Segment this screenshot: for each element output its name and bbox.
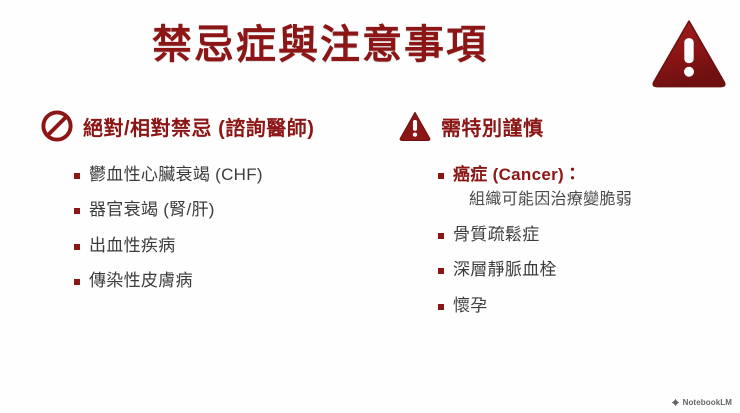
bullet-marker-icon bbox=[438, 304, 444, 310]
prohibition-icon bbox=[40, 109, 74, 143]
list-item-label: 出血性疾病 bbox=[89, 235, 176, 257]
list-item-label: 鬱血性心臟衰竭 (CHF) bbox=[89, 164, 263, 186]
list-item-subtext: 組織可能因治療變脆弱 bbox=[469, 189, 632, 211]
list-item-label: 傳染性皮膚病 bbox=[89, 270, 193, 292]
bullet-marker-icon bbox=[438, 268, 444, 274]
bullet-marker-icon bbox=[74, 279, 80, 285]
list-item: 深層靜脈血栓 bbox=[438, 259, 718, 281]
warning-triangle-icon bbox=[398, 109, 432, 143]
warning-triangle-icon bbox=[650, 16, 728, 90]
bullet-marker-icon bbox=[438, 233, 444, 239]
bullet-list-contraindications: 鬱血性心臟衰竭 (CHF) 器官衰竭 (腎/肝) 出血性疾病 傳染性皮膚病 bbox=[74, 164, 390, 293]
bullet-marker-icon bbox=[74, 173, 80, 179]
list-item: 癌症 (Cancer)： 組織可能因治療變脆弱 bbox=[438, 164, 718, 211]
column-heading-text: 需特別謹慎 bbox=[441, 112, 544, 141]
watermark: NotebookLM bbox=[671, 398, 732, 407]
bullet-marker-icon bbox=[74, 244, 80, 250]
page-title: 禁忌症與注意事項 bbox=[0, 24, 640, 66]
column-cautions: 需特別謹慎 癌症 (Cancer)： 組織可能因治療變脆弱 骨質疏鬆症 深層靜脈… bbox=[398, 104, 718, 330]
list-item: 骨質疏鬆症 bbox=[438, 224, 718, 246]
bullet-marker-icon bbox=[74, 208, 80, 214]
list-item-label: 懷孕 bbox=[453, 295, 488, 317]
list-item-label: 癌症 (Cancer)： bbox=[453, 165, 581, 184]
column-header-contraindications: 絕對/相對禁忌 (諮詢醫師) bbox=[40, 104, 390, 148]
column-header-cautions: 需特別謹慎 bbox=[398, 104, 718, 148]
column-contraindications: 絕對/相對禁忌 (諮詢醫師) 鬱血性心臟衰竭 (CHF) 器官衰竭 (腎/肝) … bbox=[40, 104, 390, 306]
list-item: 出血性疾病 bbox=[74, 235, 390, 257]
list-item: 器官衰竭 (腎/肝) bbox=[74, 199, 390, 221]
list-item: 傳染性皮膚病 bbox=[74, 270, 390, 292]
list-item-label: 器官衰竭 (腎/肝) bbox=[89, 199, 215, 221]
bullet-list-cautions: 癌症 (Cancer)： 組織可能因治療變脆弱 骨質疏鬆症 深層靜脈血栓 懷孕 bbox=[438, 164, 718, 317]
list-item: 懷孕 bbox=[438, 295, 718, 317]
list-item-label: 深層靜脈血栓 bbox=[453, 259, 557, 281]
content-columns: 絕對/相對禁忌 (諮詢醫師) 鬱血性心臟衰竭 (CHF) 器官衰竭 (腎/肝) … bbox=[0, 104, 740, 354]
notebooklm-logo-icon bbox=[671, 398, 680, 407]
watermark-label: NotebookLM bbox=[683, 398, 732, 407]
bullet-marker-icon bbox=[438, 173, 444, 179]
list-item-label: 骨質疏鬆症 bbox=[453, 224, 540, 246]
list-item: 鬱血性心臟衰竭 (CHF) bbox=[74, 164, 390, 186]
slide-canvas: 禁忌症與注意事項 bbox=[0, 0, 740, 413]
column-heading-text: 絕對/相對禁忌 (諮詢醫師) bbox=[83, 112, 314, 141]
